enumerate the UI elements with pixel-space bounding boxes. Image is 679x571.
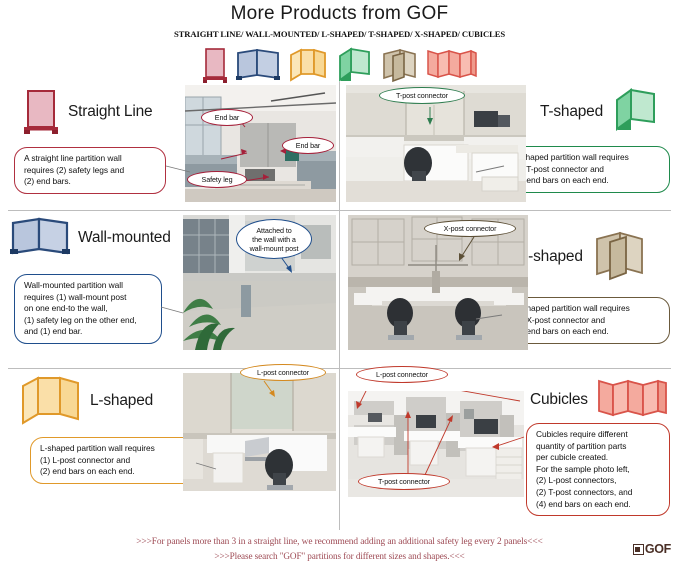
wall-mounted-photo: Attached to the wall with a wall-mount p… (183, 215, 336, 350)
product-name: Cubicles (530, 391, 588, 409)
straight-line-panel-icon (22, 88, 60, 136)
callout-wall-mount-post: Attached to the wall with a wall-mount p… (236, 219, 312, 259)
callout-safety-leg: Safety leg (187, 171, 247, 188)
footer-line-2: >>>Please search "GOF" partitions for di… (0, 547, 679, 561)
callout-t-post-connector-cubicles: T-post connector (358, 473, 450, 490)
callout-t-post-connector: T-post connector (379, 87, 465, 104)
t-shaped-photo: T-post connector (346, 85, 526, 202)
page-subtitle: STRAIGHT LINE/ WALL-MOUNTED/ L-SHAPED/ T… (0, 29, 679, 39)
product-name: L-shaped (90, 392, 153, 410)
callout-end-bar-2: End bar (282, 137, 334, 154)
product-name: Straight Line (68, 103, 152, 121)
product-note-cubicles: Cubicles require different quantity of p… (526, 423, 670, 516)
product-grid: Straight Line A straight line partition … (0, 80, 679, 530)
gof-logo-mark-icon (633, 544, 644, 555)
page-title: More Products from GOF (0, 0, 679, 25)
product-cell-wall-mounted: Wall-mounted Wall-mounted partition wall… (0, 211, 339, 368)
gof-logo: GOF (633, 542, 671, 556)
footer: >>>For panels more than 3 in a straight … (0, 530, 679, 571)
l-shaped-panel-icon (18, 374, 82, 428)
product-note-l-shaped: L-shaped partition wall requires (1) L-p… (30, 437, 196, 484)
product-icon-strip (0, 45, 679, 85)
callout-l-post-connector: L-post connector (240, 364, 326, 381)
t-shaped-panel-icon (611, 88, 657, 136)
callout-l-post-connector-cubicles: L-post connector (356, 366, 448, 383)
product-cell-l-shaped: L-shaped L-shaped partition wall require… (0, 369, 339, 530)
product-cell-x-shaped: X-shaped X-shaped partition wall require… (340, 211, 679, 368)
product-name: T-shaped (540, 103, 603, 121)
header: More Products from GOF STRAIGHT LINE/ WA… (0, 0, 679, 80)
x-shaped-panel-icon (591, 229, 647, 285)
product-cell-t-shaped: T-shaped T-shaped partition wall require… (340, 80, 679, 210)
straight-line-photo: End bar End bar Safety leg (185, 85, 336, 202)
x-shaped-photo: X-post connector (348, 215, 528, 350)
product-note-straight-line: A straight line partition wall requires … (14, 147, 166, 194)
product-note-t-shaped: T-shaped partition wall requires (1) T-p… (504, 146, 670, 193)
cubicles-panel-icon (596, 375, 668, 425)
callout-end-bar-1: End bar (201, 109, 253, 126)
l-shaped-photo (183, 373, 336, 491)
wall-mounted-panel-icon (10, 216, 70, 260)
product-cell-straight-line: Straight Line A straight line partition … (0, 80, 339, 210)
footer-line-1: >>>For panels more than 3 in a straight … (0, 530, 679, 547)
gof-logo-text: GOF (645, 542, 671, 556)
product-note-wall-mounted: Wall-mounted partition wall requires (1)… (14, 274, 162, 344)
product-cell-cubicles: Cubicles Cubicles require different quan… (340, 369, 679, 530)
callout-x-post-connector: X-post connector (424, 220, 516, 237)
product-note-x-shaped: X-shaped partition wall requires (1) X-p… (504, 297, 670, 344)
product-name: Wall-mounted (78, 229, 171, 247)
